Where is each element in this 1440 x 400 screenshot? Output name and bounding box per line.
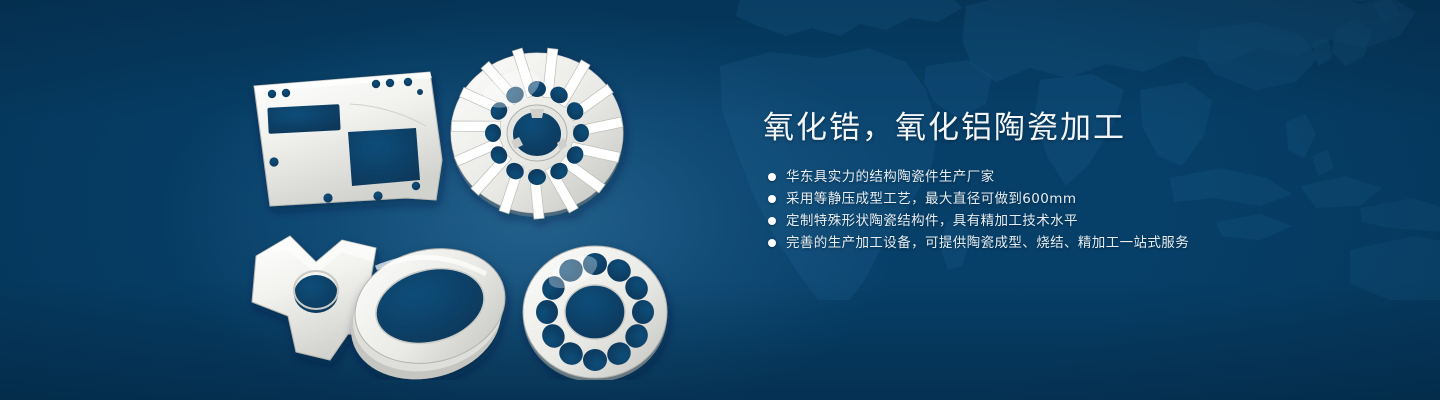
- bullet-dot-icon: [768, 195, 776, 203]
- ceramic-machined-plate: [254, 72, 442, 206]
- ceramic-vaned-impeller: [450, 46, 623, 220]
- product-photo-cluster: [230, 40, 710, 380]
- banner-headline: 氧化锆，氧化铝陶瓷加工: [763, 108, 1383, 148]
- feature-text: 定制特殊形状陶瓷结构件，具有精加工技术水平: [786, 210, 1078, 232]
- bullet-dot-icon: [768, 173, 776, 181]
- feature-text: 完善的生产加工设备，可提供陶瓷成型、烧结、精加工一站式服务: [786, 232, 1189, 254]
- feature-list: 华东具实力的结构陶瓷件生产厂家 采用等静压成型工艺，最大直径可做到600mm 定…: [763, 166, 1383, 254]
- feature-text: 采用等静压成型工艺，最大直径可做到600mm: [786, 188, 1076, 210]
- promo-banner: 氧化锆，氧化铝陶瓷加工 华东具实力的结构陶瓷件生产厂家 采用等静压成型工艺，最大…: [0, 0, 1440, 400]
- feature-text: 华东具实力的结构陶瓷件生产厂家: [786, 166, 995, 188]
- feature-item: 采用等静压成型工艺，最大直径可做到600mm: [763, 188, 1383, 210]
- bullet-dot-icon: [768, 217, 776, 225]
- feature-item: 华东具实力的结构陶瓷件生产厂家: [763, 166, 1383, 188]
- bullet-dot-icon: [768, 239, 776, 247]
- feature-item: 定制特殊形状陶瓷结构件，具有精加工技术水平: [763, 210, 1383, 232]
- feature-item: 完善的生产加工设备，可提供陶瓷成型、烧结、精加工一站式服务: [763, 232, 1383, 254]
- ceramic-hole-flange: [523, 246, 667, 380]
- banner-copy: 氧化锆，氧化铝陶瓷加工 华东具实力的结构陶瓷件生产厂家 采用等静压成型工艺，最大…: [763, 108, 1383, 254]
